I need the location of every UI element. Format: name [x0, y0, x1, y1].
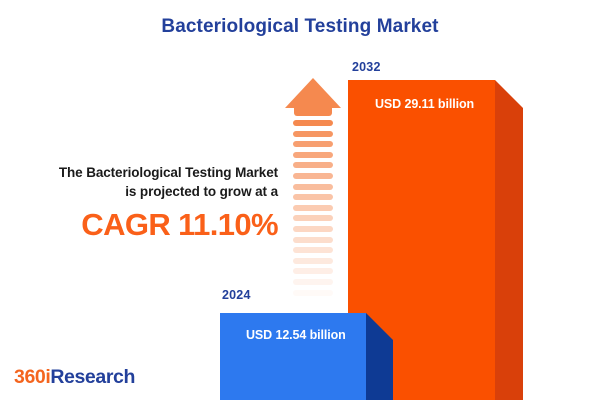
arrow-stripe — [293, 131, 333, 137]
logo-prefix: 360i — [14, 366, 50, 388]
bar-2032-value-label: USD 29.11 billion — [375, 97, 474, 111]
arrow-stripe — [293, 194, 333, 200]
arrow-stripe — [293, 290, 333, 296]
bar-2024-year-label: 2024 — [222, 288, 251, 302]
arrow-stripe — [293, 205, 333, 211]
page-title: Bacteriological Testing Market — [0, 16, 600, 38]
arrow-shaft-stripes — [293, 120, 333, 303]
bar-2024-side — [366, 313, 393, 400]
statement-block: The Bacteriological Testing Market is pr… — [16, 163, 278, 242]
arrow-stripe — [293, 184, 333, 190]
arrow-neck — [294, 105, 332, 116]
growth-arrow — [285, 78, 341, 303]
arrow-stripe — [293, 162, 333, 168]
arrow-stripe — [293, 300, 333, 306]
arrow-stripe — [293, 120, 333, 126]
arrow-stripe — [293, 141, 333, 147]
infographic-canvas: Bacteriological Testing Market The Bacte… — [0, 0, 600, 400]
bar-2024-value-label: USD 12.54 billion — [246, 328, 346, 342]
cagr-value: CAGR 11.10% — [16, 208, 278, 242]
logo-suffix: Research — [50, 366, 135, 388]
arrow-stripe — [293, 268, 333, 274]
arrow-stripe — [293, 247, 333, 253]
brand-logo: 360iResearch — [14, 366, 135, 389]
bar-2024-face — [220, 313, 366, 400]
arrow-stripe — [293, 152, 333, 158]
bar-2032-side — [495, 80, 523, 400]
arrow-stripe — [293, 173, 333, 179]
bar-2024 — [220, 313, 393, 400]
bar-2032-year-label: 2032 — [352, 60, 381, 74]
arrow-stripe — [293, 215, 333, 221]
arrow-stripe — [293, 258, 333, 264]
arrow-stripe — [293, 237, 333, 243]
statement-line-1: The Bacteriological Testing Market — [16, 163, 278, 182]
arrow-stripe — [293, 279, 333, 285]
statement-line-2: is projected to grow at a — [16, 182, 278, 201]
arrow-stripe — [293, 226, 333, 232]
